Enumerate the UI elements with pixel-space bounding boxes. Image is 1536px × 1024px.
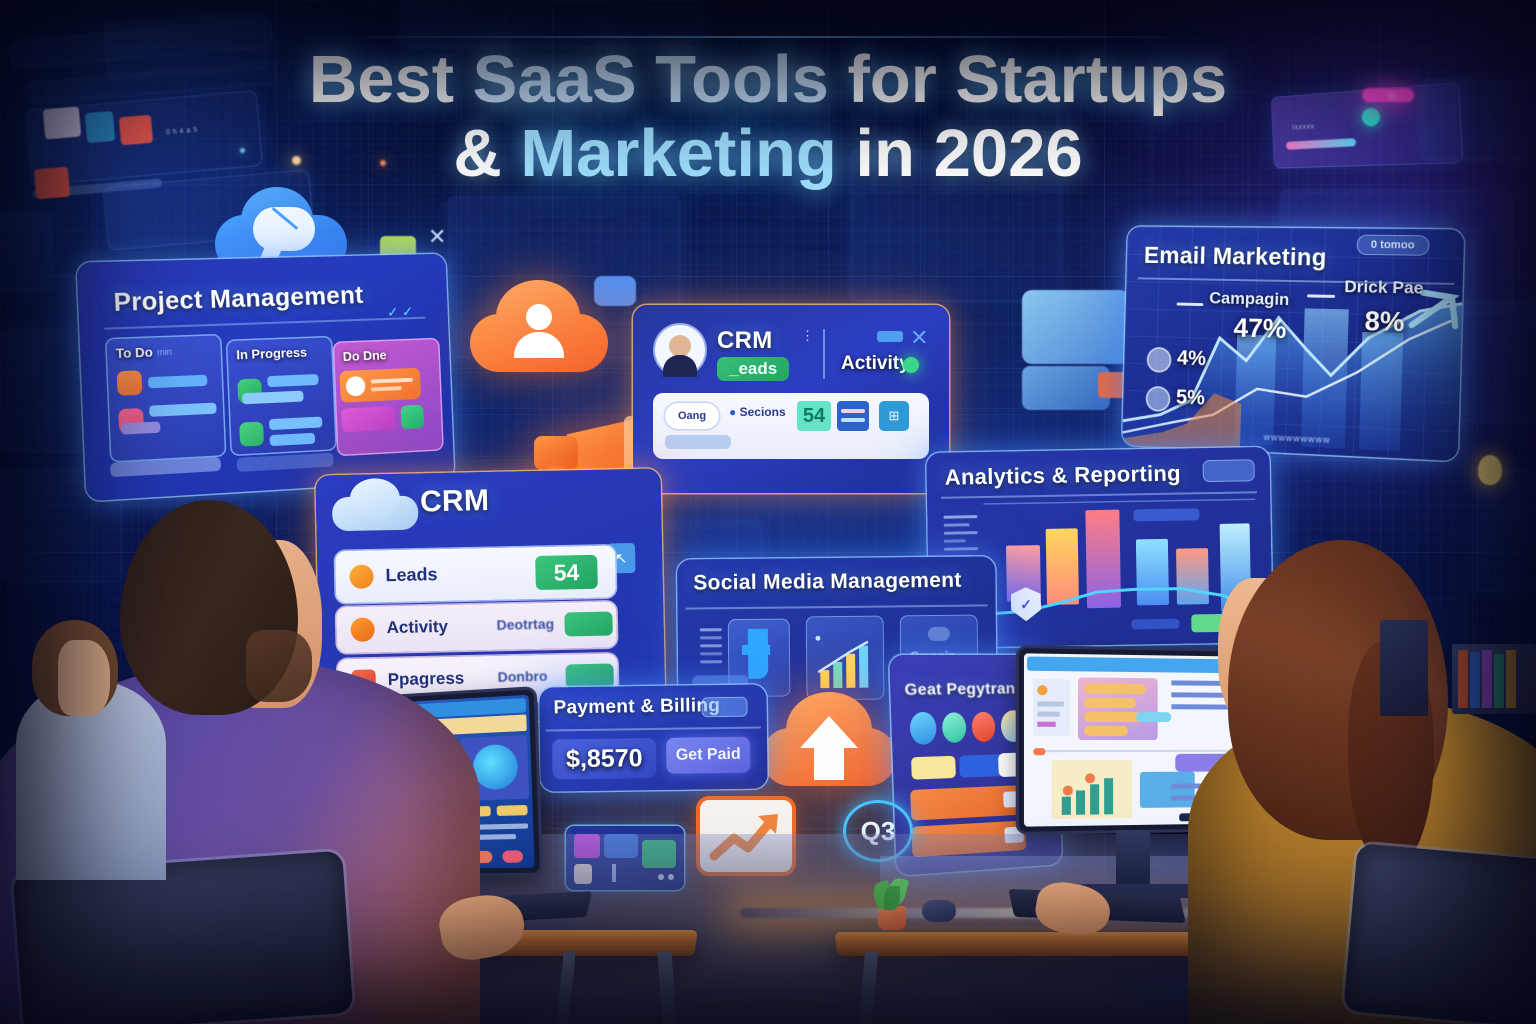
crm-center-title: CRM bbox=[717, 327, 773, 355]
crm-center-divider bbox=[823, 329, 825, 379]
performance-chip-yellow[interactable] bbox=[911, 756, 956, 780]
email-metric-clickrate: Drick Pae bbox=[1344, 277, 1424, 299]
crm-center-activity-label: Activity bbox=[841, 353, 910, 375]
kanban-card-pink[interactable] bbox=[341, 406, 396, 432]
kanban-card-icon bbox=[117, 370, 143, 396]
panel-payment-billing[interactable]: Payment & Billing $,8570 Get Paid bbox=[539, 684, 767, 791]
title-line1-part1: Best bbox=[309, 42, 473, 117]
crm-row-activity-aux: Deotrtag bbox=[496, 616, 554, 633]
social-media-title: Social Media Management bbox=[693, 569, 962, 596]
checkmark-icon: ✓ ✓ bbox=[387, 303, 414, 321]
crm-center-underbar bbox=[665, 435, 731, 449]
person-left-beard bbox=[246, 630, 312, 702]
kanban-card-icon bbox=[239, 421, 264, 446]
cloud-icon-small bbox=[332, 478, 419, 532]
kanban-card-bar bbox=[270, 433, 316, 446]
kanban-column-done[interactable]: Do Dne bbox=[332, 338, 443, 457]
kanban-card-bar bbox=[267, 374, 319, 387]
crm-row-activity-badge[interactable] bbox=[564, 611, 612, 636]
crm-row-progress-aux: Donbro bbox=[498, 668, 548, 685]
email-marketing-title: Email Marketing bbox=[1144, 242, 1327, 272]
email-stat-value-1: 4% bbox=[1177, 347, 1207, 372]
panel-project-management[interactable]: Project Management To Do min bbox=[76, 254, 454, 502]
kanban-footer-bar bbox=[237, 453, 334, 472]
minimize-icon[interactable] bbox=[877, 331, 903, 342]
project-management-title: Project Management bbox=[113, 281, 364, 318]
performance-dots bbox=[909, 710, 1026, 745]
title-line2-part1: & bbox=[453, 116, 520, 191]
analytics-title: Analytics & Reporting bbox=[945, 461, 1182, 491]
payment-window-controls[interactable] bbox=[701, 697, 747, 718]
crm-row-activity-label: Activity bbox=[386, 617, 448, 638]
title-line1-part3: for Startups bbox=[829, 42, 1227, 117]
status-dot bbox=[903, 357, 919, 373]
email-metric-clickrate-value: 8% bbox=[1364, 306, 1405, 338]
kanban-column-todo-label: To Do bbox=[116, 344, 154, 361]
crm-center-toolbar[interactable]: Oang ● Secions 54 ⊞ bbox=[653, 393, 929, 459]
crm-row-leads[interactable]: Leads 54 bbox=[335, 545, 616, 603]
crm-chip-sections[interactable]: ● Secions bbox=[729, 405, 786, 419]
crm-row-leads-value: 54 bbox=[535, 555, 598, 590]
email-stat-value-2: 5% bbox=[1176, 386, 1206, 411]
cloud-user-icon bbox=[470, 280, 608, 376]
crm-center-count: 54 bbox=[797, 401, 831, 431]
mouse[interactable] bbox=[922, 900, 956, 922]
panel-crm-center[interactable]: CRM _eads ⋮ Activity ✕ Oang ● Secions 54… bbox=[633, 305, 949, 493]
cloud-upload-icon bbox=[762, 690, 896, 792]
leads-icon bbox=[349, 564, 373, 588]
close-icon[interactable]: ✕ bbox=[910, 325, 928, 351]
analytics-window-controls[interactable] bbox=[1202, 459, 1254, 482]
panel-email-marketing[interactable]: Email Marketing 0 tomoo bbox=[1122, 227, 1464, 462]
crm-left-title: CRM bbox=[420, 484, 490, 519]
chair-right bbox=[1343, 843, 1536, 1024]
page-title: Best SaaS Tools for Startups & Marketing… bbox=[0, 46, 1536, 189]
crm-row-leads-label: Leads bbox=[385, 564, 437, 586]
social-sidebar-lines bbox=[700, 623, 722, 668]
crm-row-progress-badge[interactable] bbox=[565, 663, 613, 688]
payment-title: Payment & Billing bbox=[553, 695, 720, 719]
kanban-card-bar bbox=[121, 421, 161, 434]
crm-center-bars bbox=[837, 401, 869, 431]
desk-plant bbox=[866, 876, 916, 928]
activity-icon bbox=[350, 617, 374, 641]
email-metric-campaign: Campagin bbox=[1209, 288, 1290, 310]
kanban-column-todo[interactable]: To Do min bbox=[105, 334, 227, 463]
monitor-stand bbox=[1116, 830, 1150, 888]
kanban-column-todo-sub: min bbox=[157, 346, 172, 357]
email-metric-campaign-value: 47% bbox=[1233, 313, 1287, 345]
title-line1-highlight: SaaS Tools bbox=[473, 42, 829, 117]
title-line2-part3: in 2026 bbox=[837, 116, 1083, 191]
kanban-column-inprogress-label: In Progress bbox=[232, 342, 328, 365]
crm-chip-search[interactable]: Oang bbox=[665, 403, 719, 429]
kanban-card-bar bbox=[269, 417, 322, 431]
kanban-card-green[interactable] bbox=[401, 405, 425, 430]
email-marketing-badge[interactable]: 0 tomoo bbox=[1356, 235, 1429, 256]
kanban-card-bar bbox=[148, 374, 208, 388]
crm-row-activity[interactable]: Activity Deotrtag bbox=[336, 601, 617, 653]
crm-center-grid-icon[interactable]: ⊞ bbox=[879, 401, 909, 431]
crm-center-badge[interactable]: _eads bbox=[717, 357, 789, 381]
kebab-menu-icon[interactable]: ⋮ bbox=[801, 331, 814, 340]
kanban-card-bar bbox=[149, 403, 217, 417]
payment-amount: $,8570 bbox=[552, 738, 657, 779]
social-tile-chart[interactable] bbox=[806, 616, 885, 701]
great-performance-title: Geat Pegytrans bbox=[904, 681, 1024, 701]
kanban-column-done-label: Do Dne bbox=[339, 344, 435, 366]
title-divider bbox=[350, 36, 1186, 38]
poster-canvas: 0 h 4 a 5 Ixxxxx ✕ bbox=[0, 0, 1536, 1024]
get-paid-button[interactable]: Get Paid bbox=[666, 737, 750, 774]
crm-row-progress-label: Ppagress bbox=[388, 669, 465, 691]
kanban-card-bar bbox=[242, 391, 304, 405]
kanban-column-inprogress[interactable]: In Progress bbox=[226, 336, 337, 457]
title-line2-highlight: Marketing bbox=[520, 116, 836, 191]
